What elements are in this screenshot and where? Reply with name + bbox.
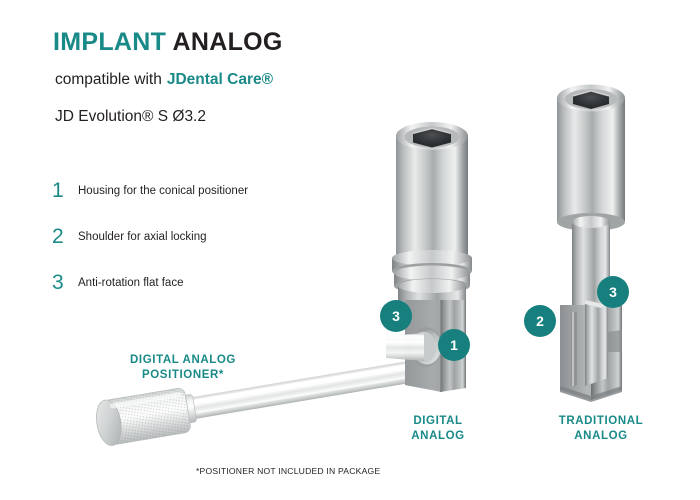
legend-list: 1 Housing for the conical positioner 2 S… — [52, 180, 352, 318]
legend-number-1: 1 — [52, 180, 74, 202]
caption-traditional-line1: TRADITIONAL — [530, 414, 672, 429]
model-name: JD Evolution® S Ø3.2 — [55, 108, 206, 126]
callout-badge-3-traditional: 3 — [597, 276, 629, 308]
footnote: *POSITIONER NOT INCLUDED IN PACKAGE — [196, 466, 380, 476]
caption-positioner-line2: POSITIONER* — [88, 368, 278, 383]
traditional-analog-art — [557, 85, 625, 403]
legend-item-1: 1 Housing for the conical positioner — [52, 180, 352, 226]
product-diagram-page: IMPLANT ANALOG compatible withJDental Ca… — [0, 0, 700, 500]
page-title: IMPLANT ANALOG — [53, 28, 283, 57]
title-implant: IMPLANT — [53, 28, 166, 56]
caption-traditional-analog: TRADITIONAL ANALOG — [530, 414, 672, 444]
caption-positioner-line1: DIGITAL ANALOG — [88, 353, 278, 368]
caption-positioner: DIGITAL ANALOG POSITIONER* — [88, 353, 278, 383]
title-analog: ANALOG — [173, 28, 283, 56]
callout-badge-1: 1 — [438, 329, 470, 361]
legend-label-2: Shoulder for axial locking — [78, 231, 207, 243]
legend-label-1: Housing for the conical positioner — [78, 185, 248, 197]
callout-badge-3-digital: 3 — [380, 300, 412, 332]
caption-digital-line1: DIGITAL — [382, 414, 494, 429]
legend-label-3: Anti-rotation flat face — [78, 277, 183, 289]
legend-number-2: 2 — [52, 226, 74, 248]
brand-name: JDental Care® — [167, 71, 273, 88]
caption-traditional-line2: ANALOG — [530, 429, 672, 444]
subtitle-prefix: compatible with — [55, 71, 162, 88]
subtitle: compatible withJDental Care® — [55, 71, 273, 89]
legend-item-2: 2 Shoulder for axial locking — [52, 226, 352, 272]
legend-item-3: 3 Anti-rotation flat face — [52, 272, 352, 318]
caption-digital-line2: ANALOG — [382, 429, 494, 444]
legend-number-3: 3 — [52, 272, 74, 294]
caption-digital-analog: DIGITAL ANALOG — [382, 414, 494, 444]
callout-badge-2: 2 — [524, 305, 556, 337]
